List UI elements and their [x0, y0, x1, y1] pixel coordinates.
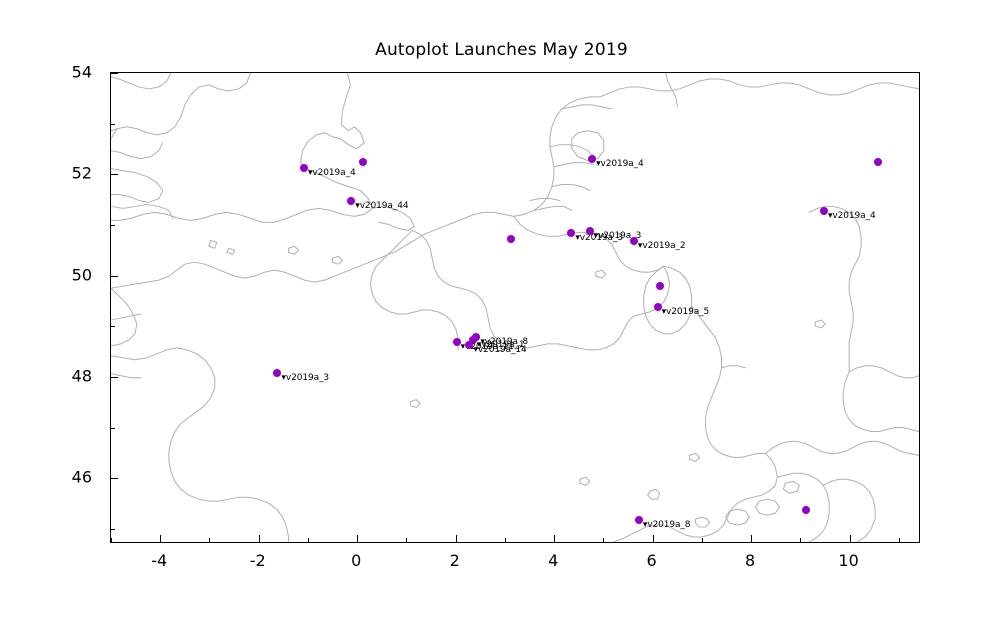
- y-axis-tick: [111, 276, 118, 277]
- x-axis-minor-tick: [603, 538, 604, 542]
- x-axis-tick-label: 2: [450, 551, 460, 570]
- scatter-point-label: ▾v2019a_14: [473, 346, 526, 355]
- y-axis-tick-label: 54: [0, 63, 92, 82]
- x-axis-tick: [456, 535, 457, 542]
- scatter-point-label: ▾v2019a_5: [662, 308, 710, 317]
- x-axis-tick: [653, 535, 654, 542]
- scatter-marker[interactable]: [567, 229, 575, 237]
- x-axis-minor-tick: [505, 538, 506, 542]
- y-axis-minor-tick: [111, 225, 115, 226]
- x-axis-minor-tick: [899, 538, 900, 542]
- y-axis-minor-tick: [111, 428, 115, 429]
- y-axis-tick: [111, 174, 118, 175]
- scatter-point-label: ▾v2019a_44: [355, 202, 408, 211]
- scatter-marker[interactable]: [507, 235, 515, 243]
- x-axis-minor-tick: [308, 538, 309, 542]
- x-axis-tick-label: 0: [351, 551, 361, 570]
- scatter-marker[interactable]: [802, 506, 810, 514]
- figure-canvas: Autoplot Launches May 2019: [0, 0, 1003, 633]
- y-axis-tick-label: 46: [0, 468, 92, 487]
- x-axis-tick: [751, 535, 752, 542]
- x-axis-tick-label: -4: [151, 551, 167, 570]
- x-axis-tick: [160, 535, 161, 542]
- map-axes: ▾v2019a_4▾v2019a_44▾v2019a_4▾v2019a_4▾v2…: [110, 72, 920, 543]
- map-geometry: [111, 73, 919, 542]
- y-axis-tick-label: 52: [0, 164, 92, 183]
- x-axis-minor-tick: [209, 538, 210, 542]
- scatter-point-label: ▾v2019a_4: [596, 160, 644, 169]
- x-axis-tick: [357, 535, 358, 542]
- scatter-marker[interactable]: [586, 227, 594, 235]
- y-axis-tick-label: 50: [0, 265, 92, 284]
- x-axis-minor-tick: [406, 538, 407, 542]
- x-axis-tick: [554, 535, 555, 542]
- scatter-point-label: ▾v2019a_8: [480, 338, 528, 347]
- scatter-point-label: ▾v2019a_3: [281, 374, 329, 383]
- y-axis-minor-tick: [111, 529, 115, 530]
- scatter-point-label: ▾v2019a_4: [828, 212, 876, 221]
- x-axis-minor-tick: [800, 538, 801, 542]
- x-axis-tick-label: 4: [548, 551, 558, 570]
- y-axis-tick-label: 48: [0, 366, 92, 385]
- x-axis-tick: [259, 535, 260, 542]
- y-axis-tick: [111, 377, 118, 378]
- y-axis-tick: [111, 73, 118, 74]
- scatter-marker[interactable]: [654, 303, 662, 311]
- y-axis-minor-tick: [111, 124, 115, 125]
- page-title: Autoplot Launches May 2019: [0, 40, 1003, 60]
- x-axis-tick-label: 8: [745, 551, 755, 570]
- x-axis-tick: [850, 535, 851, 542]
- scatter-point-label: ▾v2019a_8: [643, 521, 691, 530]
- x-axis-tick-label: 10: [838, 551, 858, 570]
- x-axis-minor-tick: [702, 538, 703, 542]
- scatter-point-label: ▾v2019a_2: [638, 242, 686, 251]
- x-axis-tick-label: -2: [250, 551, 266, 570]
- scatter-marker[interactable]: [359, 158, 367, 166]
- scatter-point-label: ▾v2019a_4: [308, 169, 356, 178]
- x-axis-tick-label: 6: [647, 551, 657, 570]
- scatter-marker[interactable]: [656, 282, 664, 290]
- x-axis-minor-tick: [111, 538, 112, 542]
- scatter-marker[interactable]: [874, 158, 882, 166]
- y-axis-minor-tick: [111, 326, 115, 327]
- scatter-marker[interactable]: [635, 516, 643, 524]
- y-axis-tick: [111, 478, 118, 479]
